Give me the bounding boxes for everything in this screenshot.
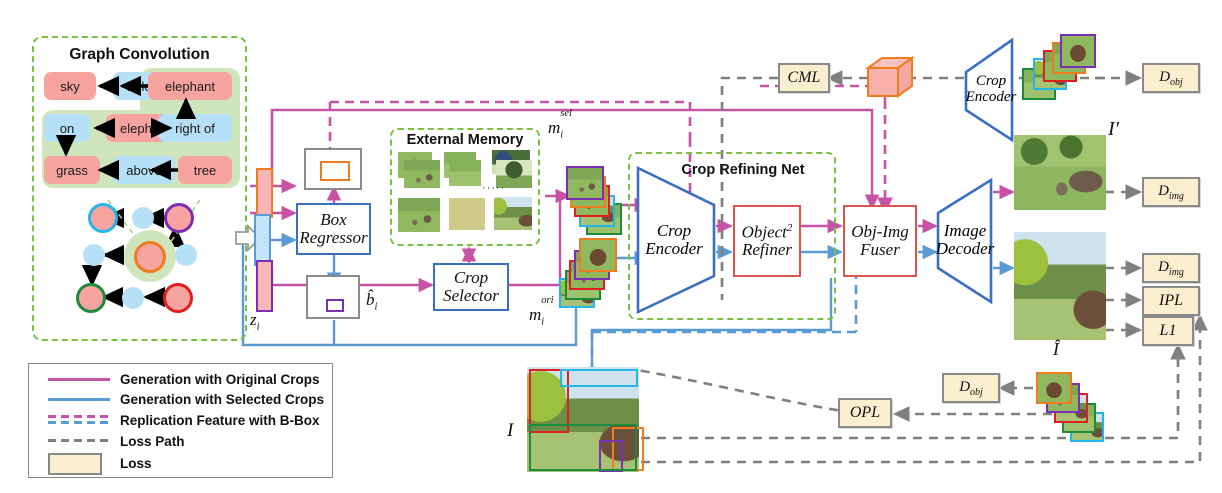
msel-crop-purple	[566, 166, 604, 200]
obj-img-fuser-module[interactable]: Obj-Img Fuser	[843, 205, 917, 277]
d-obj-top-loss-box[interactable]: Dobj	[1142, 63, 1200, 93]
graph-node-label: grass	[56, 163, 88, 178]
memory-crop-9	[494, 197, 532, 230]
object-refiner-label-1: Object2	[742, 223, 793, 242]
graph-node-grass: grass	[44, 156, 100, 184]
d-img-bottom-label: Dimg	[1158, 259, 1184, 278]
crop-encoder-top-label-1: Crop	[976, 74, 1006, 90]
image-hat-label: Î	[1053, 339, 1059, 360]
generated-image-hat	[1014, 232, 1106, 340]
d-img-top-label: Dimg	[1158, 183, 1184, 202]
crop-refining-net-title: Crop Refining Net	[648, 162, 838, 178]
graph-circle-7	[122, 287, 144, 309]
input-image-label: I	[507, 420, 513, 442]
object-refiner-label-2: Refiner	[742, 241, 792, 259]
box-regressor-label-2: Regressor	[299, 229, 367, 247]
memory-crop-2	[404, 160, 440, 188]
input-bbox-preview	[304, 148, 362, 190]
image-decoder-module[interactable]: Image Decoder	[936, 212, 994, 268]
opl-label: OPL	[850, 404, 880, 422]
graph-circle-1	[88, 203, 118, 233]
memory-crop-8	[449, 198, 485, 230]
m-sel-label: mseli	[548, 118, 577, 140]
graph-circle-5	[175, 244, 197, 266]
legend-item-4: Loss	[48, 452, 328, 474]
graph-node-sky: sky	[44, 72, 96, 100]
graph-node-label: sky	[60, 79, 80, 94]
legend-swatch-dashed-gray	[48, 434, 110, 448]
bottom-crop-orange	[1036, 372, 1072, 404]
graph-node-on: on	[44, 114, 90, 142]
graph-convolution-title: Graph Convolution	[32, 46, 247, 64]
crop-encoder-top-module[interactable]: Crop Encoder	[962, 64, 1020, 116]
crop-selector-module[interactable]: Crop Selector	[433, 263, 509, 311]
zi-bar-blue	[254, 214, 271, 266]
image-decoder-label-2: Decoder	[936, 240, 995, 258]
image-decoder-label-1: Image	[944, 222, 986, 240]
legend-label: Loss	[120, 456, 152, 471]
legend-label: Generation with Selected Crops	[120, 392, 324, 407]
memory-ellipsis: ·····	[482, 182, 505, 194]
graph-node-tree: tree	[178, 156, 232, 184]
obj-img-fuser-label-2: Fuser	[860, 241, 900, 259]
input-bbox-green	[529, 424, 637, 471]
graph-node-label: tree	[194, 163, 216, 178]
input-bbox-cyan	[560, 369, 638, 387]
image-prime-label: I′	[1108, 118, 1119, 141]
crop-selector-label-1: Crop	[454, 269, 488, 287]
opl-loss-box[interactable]: OPL	[838, 398, 892, 428]
graph-circle-8	[163, 283, 193, 313]
graph-node-above: above	[113, 156, 175, 184]
l1-loss-box[interactable]: L1	[1142, 316, 1194, 346]
legend-item-1: Generation with Selected Crops	[48, 389, 328, 409]
external-memory-title: External Memory	[390, 132, 540, 148]
ipl-loss-box[interactable]: IPL	[1142, 286, 1200, 316]
crop-encoder-module[interactable]: Crop Encoder	[638, 212, 710, 268]
graph-circle-4	[83, 244, 105, 266]
d-obj-bottom-label: Dobj	[959, 379, 983, 398]
legend-swatch-dashed-dual	[48, 413, 110, 427]
graph-node-label: above	[126, 163, 161, 178]
zi-label: zi	[250, 310, 260, 332]
object-refiner-module[interactable]: Object2 Refiner	[733, 205, 801, 277]
memory-crop-7	[398, 198, 440, 232]
generated-image-prime	[1014, 135, 1106, 210]
obj-img-fuser-label-1: Obj-Img	[851, 223, 909, 241]
legend-label: Replication Feature with B-Box	[120, 413, 320, 428]
mori-crop-orange	[579, 238, 617, 272]
cml-label: CML	[788, 69, 821, 87]
legend-label: Loss Path	[120, 434, 185, 449]
graph-circle-6	[76, 283, 106, 313]
d-img-top-loss-box[interactable]: Dimg	[1142, 177, 1200, 207]
d-obj-top-label: Dobj	[1159, 69, 1183, 88]
legend-label: Generation with Original Crops	[120, 372, 320, 387]
legend-item-2: Replication Feature with B-Box	[48, 410, 328, 430]
d-img-bottom-loss-box[interactable]: Dimg	[1142, 253, 1200, 283]
legend-swatch-loss-box	[48, 456, 110, 470]
graph-node-label: elephant	[165, 79, 215, 94]
legend-item-0: Generation with Original Crops	[48, 369, 328, 389]
crop-encoder-label-1: Crop	[657, 222, 691, 240]
l1-label: L1	[1160, 322, 1177, 340]
crop-selector-label-2: Selector	[443, 287, 499, 305]
ipl-label: IPL	[1159, 292, 1183, 310]
cml-loss-box[interactable]: CML	[778, 63, 830, 93]
crop-encoder-label-2: Encoder	[645, 240, 703, 258]
b-hat-i-label: b̂i	[366, 290, 377, 312]
d-obj-bottom-loss-box[interactable]: Dobj	[942, 373, 1000, 403]
graph-circle-3	[164, 203, 194, 233]
legend-item-3: Loss Path	[48, 431, 328, 451]
graph-circle-2	[132, 207, 154, 229]
graph-circle-center	[134, 241, 166, 273]
m-ori-label: morii	[529, 305, 558, 327]
predicted-bbox-preview	[306, 275, 360, 319]
zi-bar-orange	[256, 168, 273, 218]
box-regressor-module[interactable]: Box Regressor	[296, 203, 371, 255]
legend-swatch-solid-magenta	[48, 372, 110, 386]
zi-bar-purple	[256, 260, 273, 312]
box-regressor-label-1: Box	[320, 211, 346, 229]
object-refiner-superscript: 2	[787, 222, 793, 234]
crop-encoder-top-label-2: Encoder	[966, 90, 1017, 106]
graph-node-label: on	[60, 121, 74, 136]
graph-node-right-of: right of	[158, 114, 232, 142]
top-crop-purple	[1060, 34, 1096, 68]
graph-node-elephant-1: elephant	[148, 72, 232, 100]
legend-swatch-solid-blue	[48, 392, 110, 406]
memory-crop-4	[449, 160, 481, 186]
graph-node-label: right of	[175, 121, 215, 136]
